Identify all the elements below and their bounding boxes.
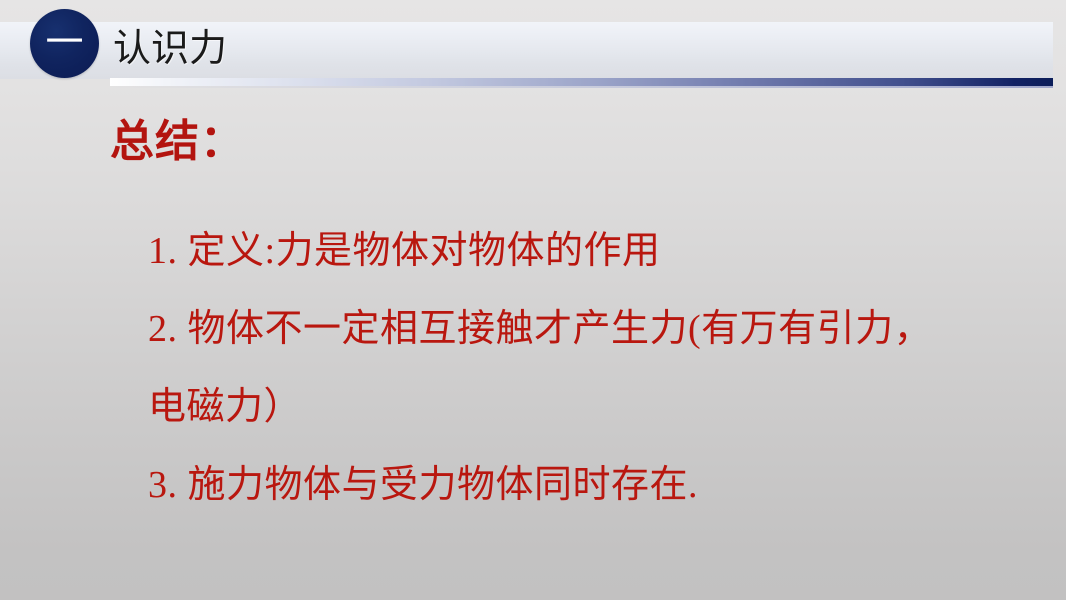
header-divider-rule	[110, 78, 1053, 86]
page-title: 认识力	[113, 22, 227, 76]
summary-heading: 总结：	[110, 114, 245, 170]
section-number-badge: 一	[30, 9, 99, 78]
list-item: 2. 物体不一定相互接触才产生力(有万有引力，	[148, 290, 1066, 368]
summary-list: 1. 定义:力是物体对物体的作用 2. 物体不一定相互接触才产生力(有万有引力，…	[148, 212, 1066, 524]
section-number-label: 一	[30, 9, 99, 78]
slide-canvas: 一 认识力 总结： 1. 定义:力是物体对物体的作用 2. 物体不一定相互接触才…	[0, 0, 1066, 600]
list-item-continuation: 电磁力）	[148, 368, 1066, 446]
header-divider-rule-shadow	[110, 86, 1053, 88]
list-item: 3. 施力物体与受力物体同时存在.	[148, 446, 1066, 524]
list-item: 1. 定义:力是物体对物体的作用	[148, 212, 1066, 290]
